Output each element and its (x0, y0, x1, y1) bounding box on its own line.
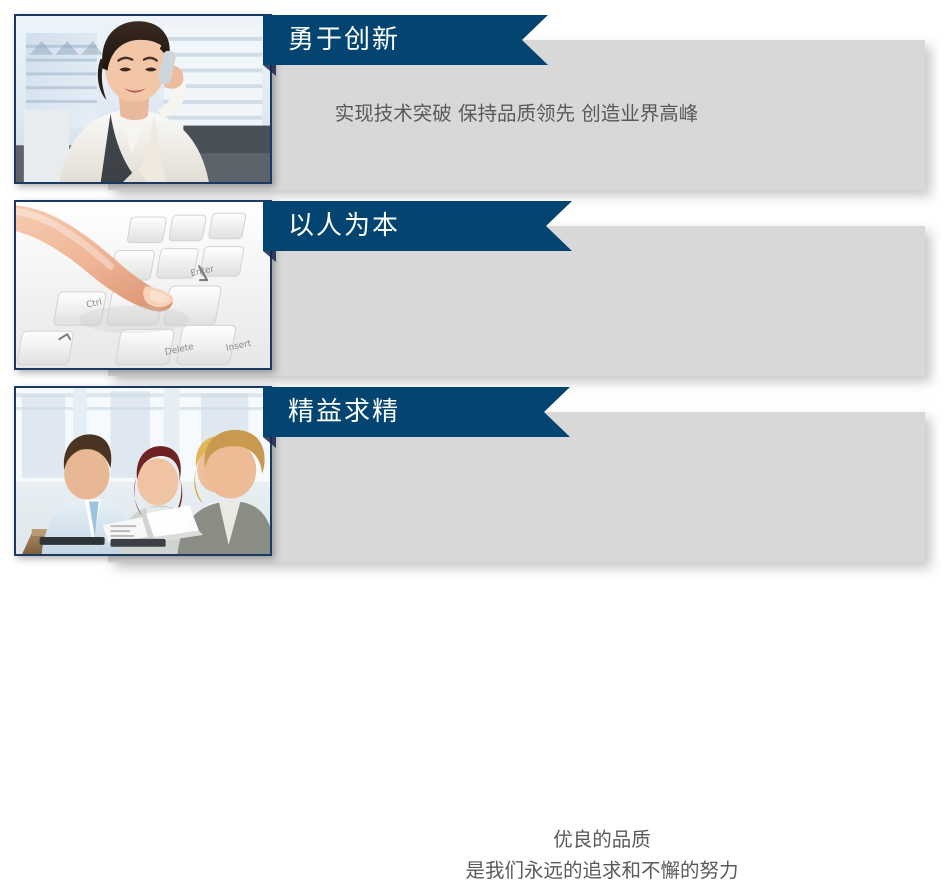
value-card: Ctrl Enter Delete Insert 以人为本 生产经营管理过程中以… (0, 186, 949, 382)
values-page: 勇于创新 实现技术突破 保持品质领先 创造业界高峰 (0, 0, 949, 584)
photo-team-meeting-image (16, 388, 270, 554)
photo-finger-keyboard: Ctrl Enter Delete Insert (14, 200, 272, 370)
value-card: 精益求精 优良的品质 是我们永远的追求和不懈的努力 (0, 372, 949, 568)
value-card: 勇于创新 实现技术突破 保持品质领先 创造业界高峰 (0, 0, 949, 196)
banner-ribbon (263, 15, 548, 65)
photo-team-meeting (14, 386, 272, 556)
photo-finger-keyboard-image: Ctrl Enter Delete Insert (16, 202, 270, 368)
banner-ribbon (263, 387, 570, 437)
card-body-text: 优良的品质 是我们永远的追求和不懈的努力 (288, 824, 916, 886)
banner-ribbon (263, 201, 572, 251)
card-body-text: 实现技术突破 保持品质领先 创造业界高峰 (108, 98, 925, 129)
